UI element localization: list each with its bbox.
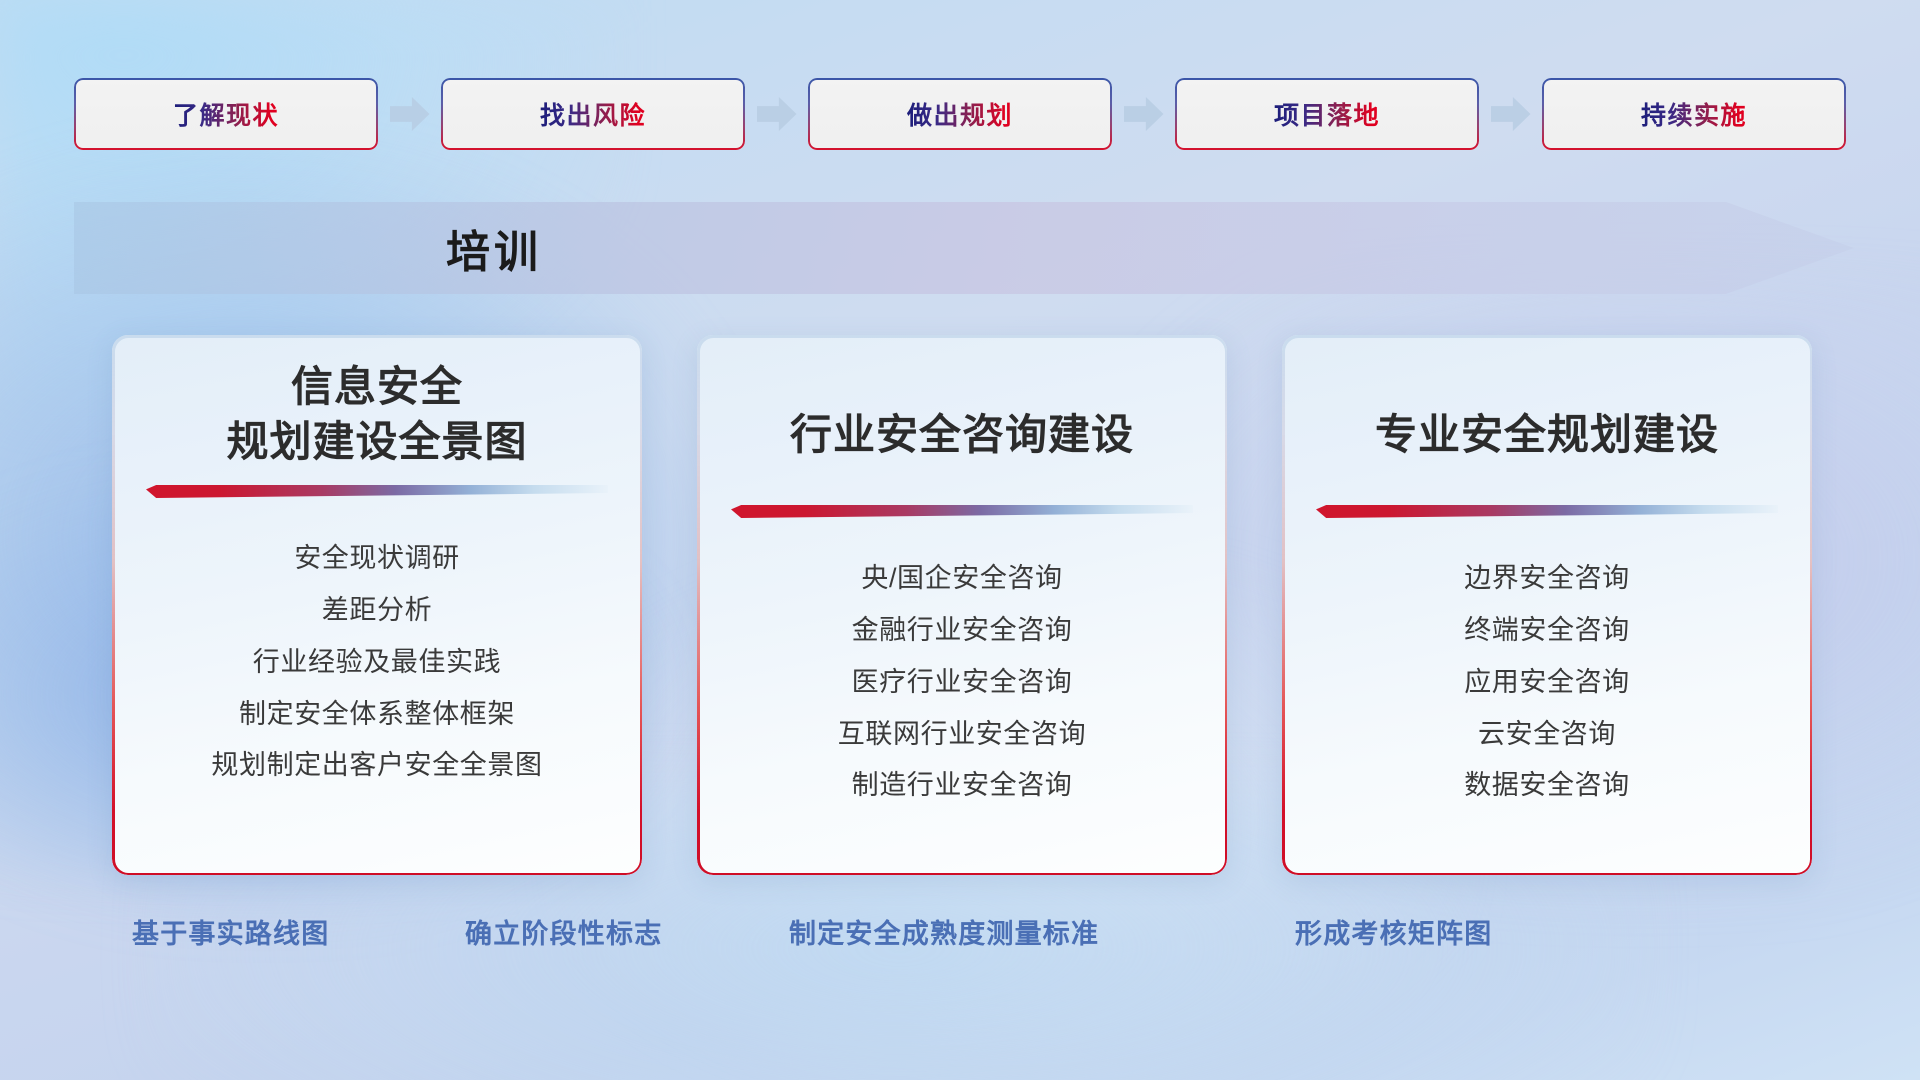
process-step-2[interactable]: 找出风险 — [441, 78, 745, 150]
card-industry-security-consulting[interactable]: 行业安全咨询建设 央/国企安全咨询 金融行业安全咨询 医疗行业安全咨询 互联网行… — [697, 335, 1227, 875]
list-item: 数据安全咨询 — [1464, 765, 1630, 807]
caption-stage-milestone: 确立阶段性标志 — [465, 912, 662, 951]
list-item: 行业经验及最佳实践 — [253, 642, 501, 684]
caption-basis-roadmap: 基于事实路线图 — [132, 912, 329, 951]
card-professional-security-planning[interactable]: 专业安全规划建设 边界安全咨询 终端安全咨询 应用安全咨询 云安全咨询 数据安全… — [1282, 335, 1812, 875]
process-step-label: 做出规划 — [907, 96, 1013, 132]
right-arrow-icon — [390, 97, 430, 131]
list-item: 央/国企安全咨询 — [861, 558, 1062, 600]
right-arrow-icon — [1491, 97, 1531, 131]
list-item: 制定安全体系整体框架 — [239, 694, 515, 736]
caption-maturity-metric: 制定安全成熟度测量标准 — [789, 912, 1099, 951]
list-item: 边界安全咨询 — [1464, 558, 1630, 600]
card-title-line: 信息安全 — [291, 363, 463, 410]
list-item: 互联网行业安全咨询 — [838, 714, 1086, 756]
banner-title: 培训 — [74, 202, 1854, 294]
card-item-list: 央/国企安全咨询 金融行业安全咨询 医疗行业安全咨询 互联网行业安全咨询 制造行… — [697, 518, 1227, 875]
card-item-list: 边界安全咨询 终端安全咨询 应用安全咨询 云安全咨询 数据安全咨询 — [1282, 518, 1812, 875]
process-step-label: 项目落地 — [1274, 96, 1380, 132]
card-information-security-panorama[interactable]: 信息安全 规划建设全景图 安全现状调研 差距分析 行业经验及最佳实践 制定安全体… — [112, 335, 642, 875]
card-title: 专业安全规划建设 — [1282, 379, 1812, 491]
list-item: 安全现状调研 — [294, 538, 460, 580]
process-step-3[interactable]: 做出规划 — [808, 78, 1112, 150]
card-item-list: 安全现状调研 差距分析 行业经验及最佳实践 制定安全体系整体框架 规划制定出客户… — [112, 498, 642, 875]
list-item: 医疗行业安全咨询 — [852, 662, 1073, 704]
card-row: 信息安全 规划建设全景图 安全现状调研 差距分析 行业经验及最佳实践 制定安全体… — [112, 335, 1812, 875]
card-divider-rule — [146, 485, 608, 498]
list-item: 应用安全咨询 — [1464, 662, 1630, 704]
process-step-4[interactable]: 项目落地 — [1175, 78, 1479, 150]
process-step-label: 找出风险 — [540, 96, 646, 132]
training-banner: 培训 — [74, 202, 1854, 294]
process-step-label: 了解现状 — [173, 96, 279, 132]
process-step-row: 了解现状 找出风险 做出规划 项目落地 持续实施 — [74, 78, 1846, 150]
right-arrow-icon — [757, 97, 797, 131]
caption-row: 基于事实路线图 确立阶段性标志 制定安全成熟度测量标准 形成考核矩阵图 — [0, 912, 1920, 962]
right-arrow-icon — [1124, 97, 1164, 131]
card-title: 行业安全咨询建设 — [697, 379, 1227, 491]
process-step-label: 持续实施 — [1641, 96, 1747, 132]
list-item: 云安全咨询 — [1478, 714, 1616, 756]
list-item: 终端安全咨询 — [1464, 610, 1630, 652]
process-step-1[interactable]: 了解现状 — [74, 78, 378, 150]
card-divider-rule — [1316, 505, 1778, 518]
process-step-5[interactable]: 持续实施 — [1542, 78, 1846, 150]
list-item: 金融行业安全咨询 — [852, 610, 1073, 652]
list-item: 差距分析 — [322, 590, 432, 632]
caption-assessment-matrix: 形成考核矩阵图 — [1295, 912, 1492, 951]
list-item: 规划制定出客户安全全景图 — [211, 745, 542, 787]
card-title: 信息安全 规划建设全景图 — [112, 359, 642, 471]
list-item: 制造行业安全咨询 — [852, 765, 1073, 807]
card-title-line: 规划建设全景图 — [226, 418, 527, 465]
card-divider-rule — [731, 505, 1193, 518]
